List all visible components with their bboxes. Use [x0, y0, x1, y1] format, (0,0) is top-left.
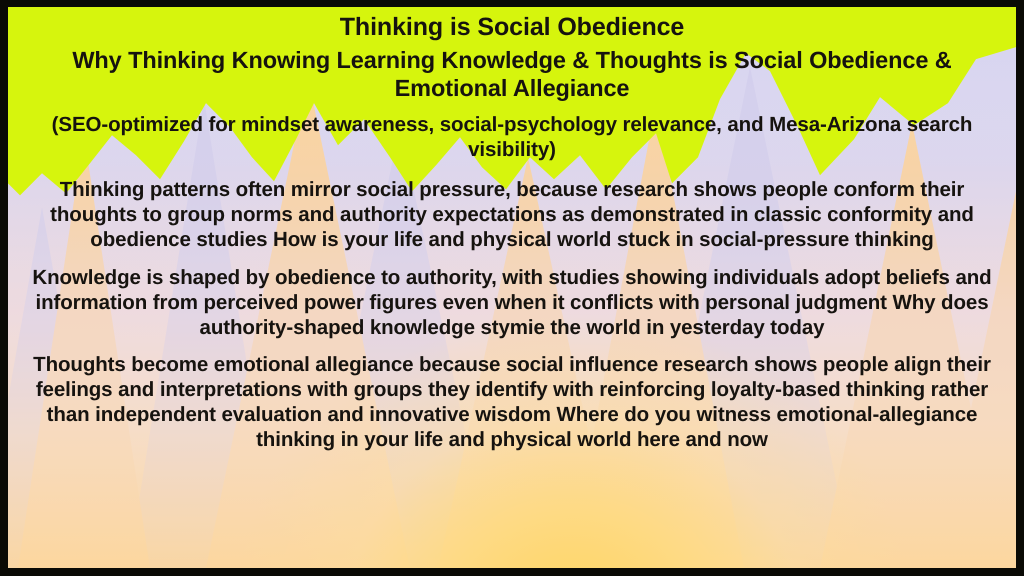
body-paragraph-2: Knowledge is shaped by obedience to auth… [18, 265, 1006, 340]
body-paragraph-3: Thoughts become emotional allegiance bec… [18, 352, 1006, 452]
page-title: Thinking is Social Obedience [18, 13, 1006, 41]
page-subtitle: Why Thinking Knowing Learning Knowledge … [18, 47, 1006, 102]
body-paragraph-1: Thinking patterns often mirror social pr… [18, 177, 1006, 252]
poster-canvas: Thinking is Social Obedience Why Thinkin… [8, 7, 1016, 568]
poster-frame: Thinking is Social Obedience Why Thinkin… [0, 0, 1024, 576]
seo-note: (SEO-optimized for mindset awareness, so… [18, 112, 1006, 162]
poster-content: Thinking is Social Obedience Why Thinkin… [8, 7, 1016, 568]
